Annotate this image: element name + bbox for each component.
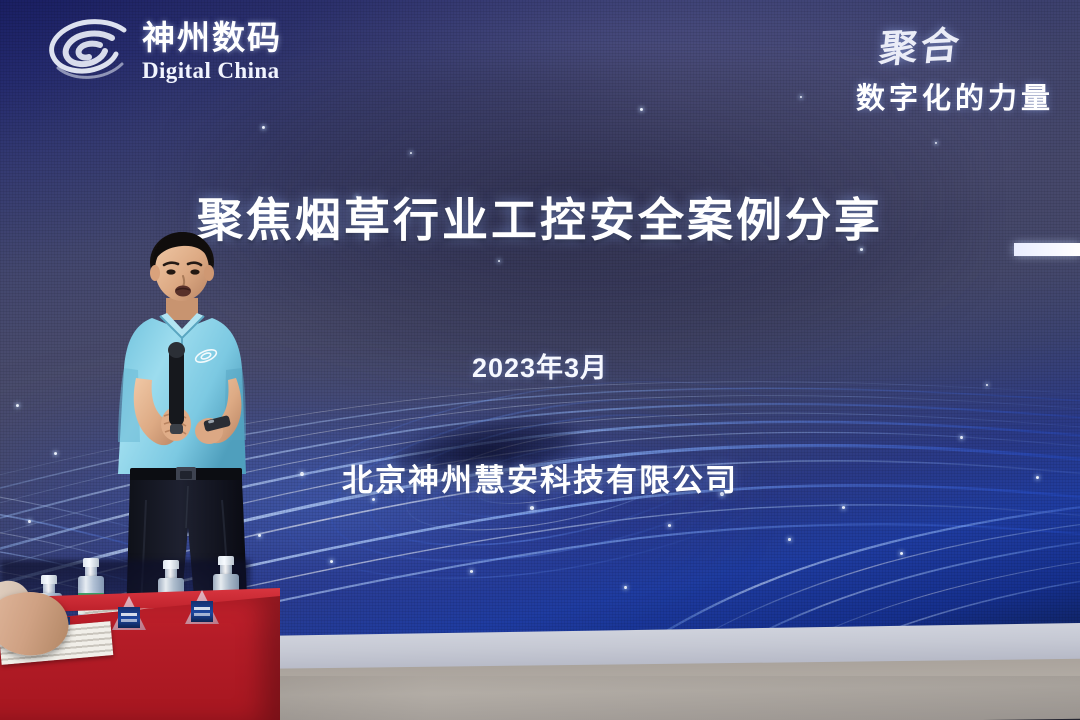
bottle-neck xyxy=(43,584,55,593)
name-card xyxy=(185,590,219,624)
bottle-cap xyxy=(218,556,234,565)
digital-china-logo: 神州数码 Digital China xyxy=(44,14,282,88)
microphone-icon xyxy=(168,342,185,434)
logo-name-cn: 神州数码 xyxy=(142,21,282,54)
bottle-neck xyxy=(165,569,177,578)
conference-photo: 神州数码 Digital China 聚合 数字化的力量 聚焦烟草行业工控安全案… xyxy=(0,0,1080,720)
bottle-cap xyxy=(163,560,179,569)
slogan-sub-text: 数字化的力量 xyxy=(774,75,1054,117)
name-card-insert xyxy=(191,601,213,622)
name-card xyxy=(112,596,146,630)
name-card-insert xyxy=(118,607,140,628)
bottle-cap xyxy=(41,575,57,584)
spiral-swirl-icon xyxy=(44,14,132,88)
bottle-cap xyxy=(83,558,99,567)
slogan-brush-text: 聚合 xyxy=(877,14,965,73)
event-slogan: 聚合 数字化的力量 xyxy=(774,16,1054,117)
logo-name-en: Digital China xyxy=(142,59,282,82)
accent-bar xyxy=(1014,243,1080,256)
bottle-neck xyxy=(85,567,97,576)
bottle-neck xyxy=(220,565,232,574)
